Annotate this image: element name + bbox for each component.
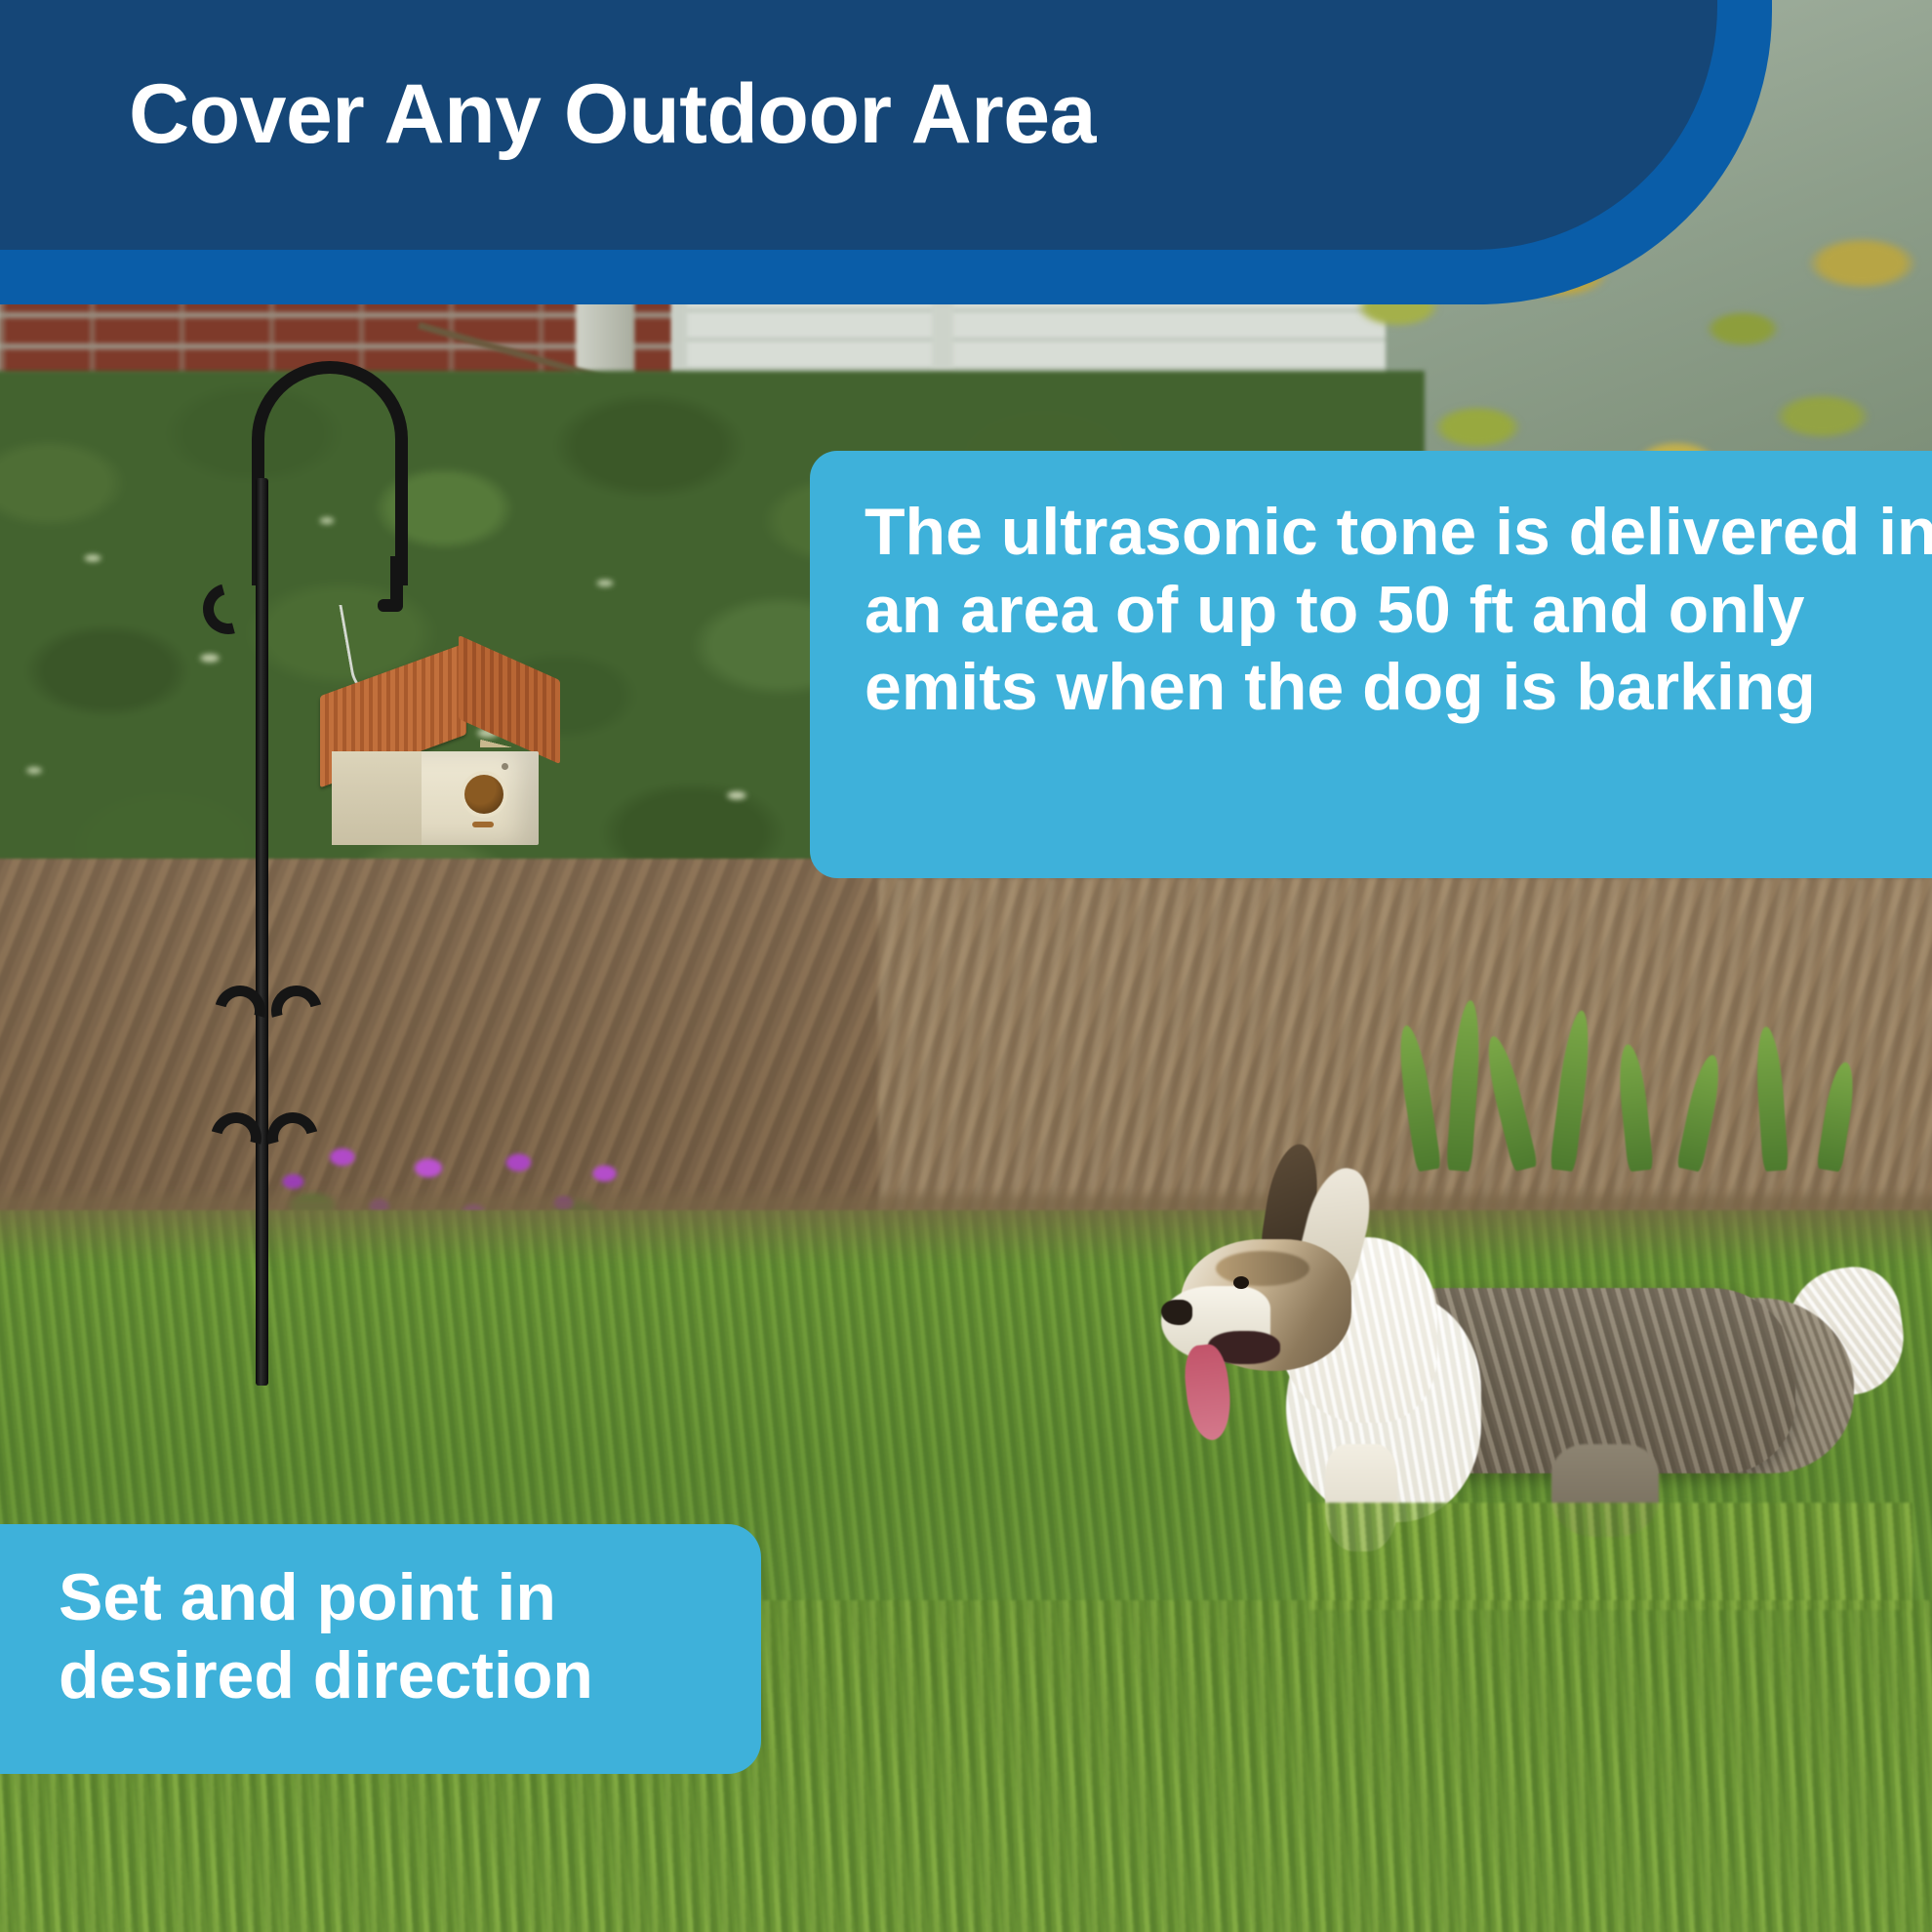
shepherd-hook	[146, 361, 439, 1395]
hook-arc	[252, 361, 408, 585]
hook-scroll-low-right	[258, 1103, 327, 1172]
hook-pole	[256, 478, 268, 1386]
dog-nose	[1161, 1300, 1192, 1325]
dog	[1161, 1122, 1903, 1610]
header-band-primary: Cover Any Outdoor Area	[0, 0, 1717, 250]
placement-callout: Set and point in desired direction	[0, 1524, 761, 1774]
birdhouse-perch	[472, 822, 494, 827]
hook-scroll-mid-right	[262, 976, 331, 1045]
page-title: Cover Any Outdoor Area	[129, 72, 1096, 156]
birdhouse-entry-hole	[464, 775, 503, 814]
birdhouse-side-panel	[332, 751, 422, 845]
birdhouse-device	[320, 654, 564, 849]
range-callout: The ultrasonic tone is delivered in an a…	[810, 451, 1932, 878]
hook-tip	[390, 556, 403, 611]
dog-brow	[1216, 1251, 1309, 1286]
birdhouse-screw	[502, 763, 508, 770]
marketing-image: Cover Any Outdoor Area The ultrasonic to…	[0, 0, 1932, 1932]
foreground-grass-overlay	[1308, 1503, 1912, 1610]
dog-eye	[1233, 1276, 1249, 1289]
